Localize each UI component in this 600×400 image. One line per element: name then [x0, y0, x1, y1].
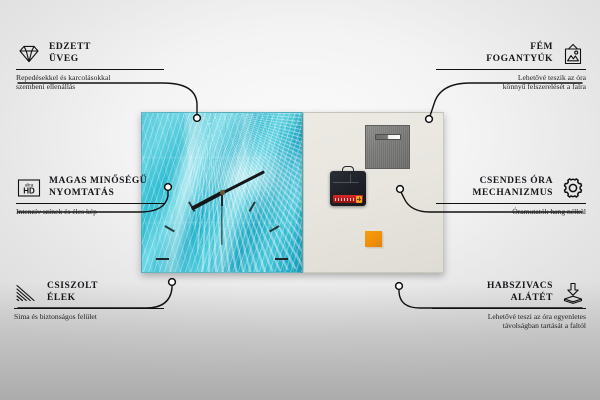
mechanism-hanger-loop: [342, 166, 354, 173]
callout-silent-subtitle: Óramutatók hang nélkül: [434, 207, 586, 216]
callout-silent-rule: [436, 203, 586, 204]
callout-print-subtitle: Intenzív színek és éles kép: [16, 207, 166, 216]
callout-silent-title: CSENDES ÓRA MECHANIZMUS: [473, 176, 553, 199]
clock-dial: [156, 127, 288, 259]
metal-hanger-plate: [365, 125, 410, 169]
clock-back-panel: [303, 112, 444, 273]
infographic-canvas: EDZETT ÜVEG Repedésekkel és karcolásokka…: [0, 0, 600, 400]
callout-print-head: ultra HD MAGAS MINŐSÉGŰ NYOMTATÁS: [16, 176, 166, 199]
foam-pad: [365, 231, 382, 247]
dial-tick: [249, 201, 256, 212]
callout-glass-head: EDZETT ÜVEG: [16, 42, 166, 65]
dial-tick: [164, 225, 175, 232]
callout-hooks-head: FÉM FOGANTYÚK: [434, 42, 586, 65]
callout-edges: CSISZOLT ÉLEK Sima és biztonságos felüle…: [14, 281, 164, 321]
callout-print: ultra HD MAGAS MINŐSÉGŰ NYOMTATÁS Intenz…: [16, 176, 166, 216]
callout-edges-subtitle: Sima és biztonságos felület: [14, 312, 164, 321]
callout-glass-rule: [16, 69, 164, 70]
callout-edges-rule: [14, 308, 164, 309]
callout-edges-head: CSISZOLT ÉLEK: [14, 281, 164, 304]
gear-icon: [560, 177, 586, 199]
ultra-hd-icon-main-label: HD: [23, 186, 35, 195]
callout-hooks: FÉM FOGANTYÚK Lehetővé teszik az óra kön…: [434, 42, 586, 91]
polished-edge-icon: [14, 283, 40, 303]
dial-tick: [269, 225, 280, 232]
dial-tick: [275, 258, 288, 260]
callout-glass-title: EDZETT ÜVEG: [49, 42, 91, 65]
picture-hanger-icon: [560, 43, 586, 65]
mechanism-seam-vertical: [350, 174, 351, 183]
dial-tick: [156, 257, 169, 259]
mechanism-seam: [333, 182, 359, 183]
callout-foam: HABSZIVACS ALÁTÉT Lehetővé teszi az óra …: [430, 281, 586, 330]
callout-foam-subtitle: Lehetővé teszi az óra egyenletes távolsá…: [430, 312, 586, 331]
battery-plus-terminal: [356, 196, 362, 203]
plate-grain-texture: [366, 126, 409, 168]
callout-hooks-title: FÉM FOGANTYÚK: [486, 42, 553, 65]
callout-glass: EDZETT ÜVEG Repedésekkel és karcolásokka…: [16, 42, 166, 91]
callout-foam-title: HABSZIVACS ALÁTÉT: [487, 281, 553, 304]
callout-foam-rule: [432, 308, 586, 309]
battery-label: [335, 198, 355, 201]
callout-print-rule: [16, 203, 164, 204]
leader-endpoint-edges: [169, 279, 176, 286]
foam-pad-icon: [560, 282, 586, 304]
clock-minute-hand: [221, 170, 264, 194]
callout-silent: CSENDES ÓRA MECHANIZMUS Óramutatók hang …: [434, 176, 586, 216]
leader-endpoint-foam: [396, 283, 403, 290]
callout-hooks-rule: [436, 69, 586, 70]
diamond-icon: [16, 44, 42, 64]
callout-hooks-subtitle: Lehetővé teszik az óra könnyű felszerelé…: [434, 73, 586, 92]
callout-foam-head: HABSZIVACS ALÁTÉT: [430, 281, 586, 304]
product-image-group: [141, 112, 444, 273]
clock-center-cap: [220, 190, 225, 195]
callout-edges-title: CSISZOLT ÉLEK: [47, 281, 98, 304]
ultra-hd-icon: ultra HD: [16, 178, 42, 198]
quartz-mechanism-box: [330, 171, 366, 206]
clock-hour-hand: [191, 191, 223, 210]
hanger-slot: [375, 134, 401, 140]
callout-glass-subtitle: Repedésekkel és karcolásokkal szembeni e…: [16, 73, 166, 92]
callout-print-title: MAGAS MINŐSÉGŰ NYOMTATÁS: [49, 176, 147, 199]
battery: [333, 195, 363, 203]
callout-silent-head: CSENDES ÓRA MECHANIZMUS: [434, 176, 586, 199]
